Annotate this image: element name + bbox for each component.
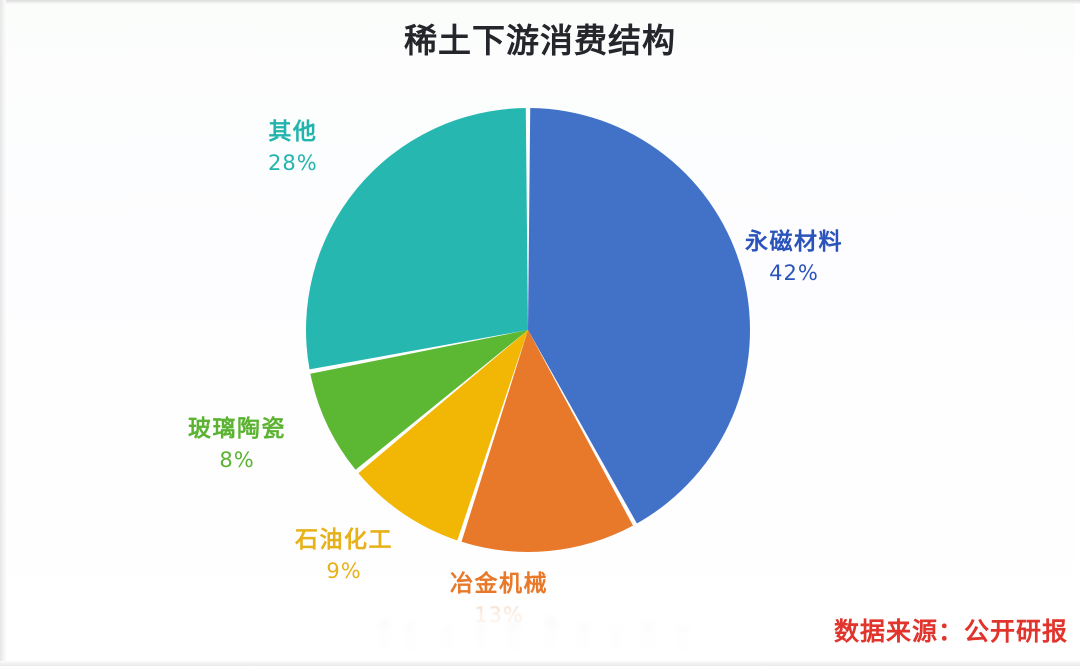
slice-label-other-name: 其他 <box>268 118 318 147</box>
slice-label-metallurgy-value: 13% <box>450 602 548 629</box>
pie-slice[interactable] <box>306 108 528 369</box>
slice-label-petrochemical-value: 9% <box>295 558 393 585</box>
slice-label-petrochemical-name: 石油化工 <box>295 526 393 555</box>
pie-svg <box>303 105 753 555</box>
slice-label-permanent-magnet: 永磁材料 42% <box>745 228 843 287</box>
slice-label-glass-ceramic: 玻璃陶瓷 8% <box>188 415 286 474</box>
slice-label-other: 其他 28% <box>268 118 318 177</box>
page-title: 稀土下游消费结构 <box>0 14 1080 62</box>
slice-label-permanent-magnet-name: 永磁材料 <box>745 228 843 257</box>
left-edge-gutter <box>0 0 6 666</box>
data-source-note: 数据来源：公开研报 <box>834 612 1068 648</box>
top-edge-gutter <box>0 0 1080 4</box>
chart-screenshot: 稀土下游消费结构 永磁材料 42% 其他 28% 玻璃陶瓷 8% 石油化工 9%… <box>0 0 1080 666</box>
slice-label-glass-ceramic-name: 玻璃陶瓷 <box>188 415 286 444</box>
slice-label-permanent-magnet-value: 42% <box>745 260 843 287</box>
slice-label-petrochemical: 石油化工 9% <box>295 526 393 585</box>
slice-label-metallurgy-name: 冶金机械 <box>450 570 548 599</box>
slice-label-metallurgy: 冶金机械 13% <box>450 570 548 629</box>
bottom-edge-gutter <box>0 661 1080 666</box>
pie-chart <box>303 105 753 555</box>
slice-label-glass-ceramic-value: 8% <box>188 447 286 474</box>
slice-label-other-value: 28% <box>268 150 318 177</box>
